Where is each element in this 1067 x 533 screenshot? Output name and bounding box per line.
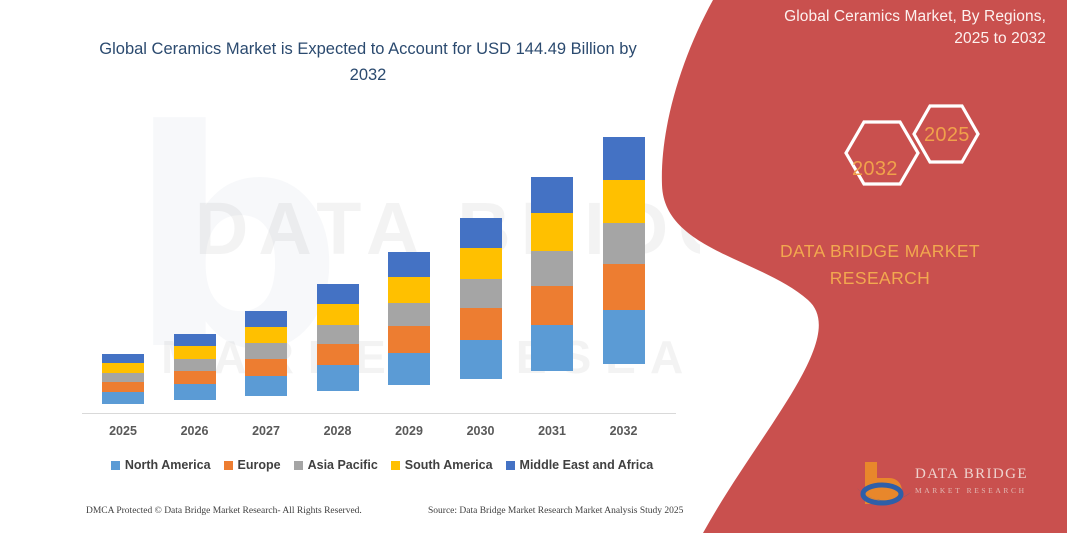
- legend-label: Europe: [238, 458, 281, 472]
- bar-segment-europe: [603, 264, 645, 310]
- hexagon-outlines: [820, 98, 1000, 210]
- legend-item-middle-east-and-africa[interactable]: Middle East and Africa: [506, 458, 654, 472]
- legend-swatch-icon: [224, 461, 233, 470]
- bar-segment-europe: [531, 286, 573, 325]
- infographic-root: b DATA BRIDGE MARKET RESEARCH Global Cer…: [0, 0, 1067, 533]
- legend-swatch-icon: [391, 461, 400, 470]
- logo-title: DATA BRIDGE: [915, 466, 1028, 483]
- bar-segment-europe: [388, 326, 430, 353]
- bar-segment-asia-pacific: [388, 303, 430, 327]
- bar-segment-north-america: [603, 310, 645, 364]
- legend-item-europe[interactable]: Europe: [224, 458, 281, 472]
- legend-swatch-icon: [506, 461, 515, 470]
- x-label-2026: 2026: [165, 424, 225, 438]
- bar-2032: [603, 137, 645, 415]
- bar-segment-north-america: [388, 353, 430, 385]
- bar-segment-middle-east-and-africa: [245, 311, 287, 327]
- bar-segment-middle-east-and-africa: [317, 284, 359, 304]
- bar-segment-europe: [245, 359, 287, 376]
- legend-swatch-icon: [111, 461, 120, 470]
- chart-legend: North AmericaEuropeAsia PacificSouth Ame…: [82, 455, 682, 475]
- bar-segment-north-america: [460, 340, 502, 378]
- x-label-2028: 2028: [308, 424, 368, 438]
- bar-segment-south-america: [388, 277, 430, 303]
- x-label-2029: 2029: [379, 424, 439, 438]
- hexagon-2025-label: 2025: [924, 124, 970, 147]
- chart-title: Global Ceramics Market is Expected to Ac…: [92, 36, 644, 88]
- bar-segment-europe: [174, 371, 216, 384]
- bar-2026: [174, 334, 216, 415]
- bar-2025: [102, 354, 144, 415]
- bar-segment-south-america: [245, 327, 287, 343]
- legend-swatch-icon: [294, 461, 303, 470]
- x-axis-labels: 20252026202720282029203020312032: [82, 424, 682, 446]
- legend-item-south-america[interactable]: South America: [391, 458, 493, 472]
- bar-segment-europe: [102, 382, 144, 392]
- bar-segment-middle-east-and-africa: [102, 354, 144, 363]
- panel-title: Global Ceramics Market, By Regions, 2025…: [746, 6, 1046, 50]
- legend-label: South America: [405, 458, 493, 472]
- bar-segment-middle-east-and-africa: [603, 137, 645, 180]
- bar-segment-north-america: [531, 325, 573, 371]
- footer-copyright: DMCA Protected © Data Bridge Market Rese…: [86, 506, 362, 516]
- footer: DMCA Protected © Data Bridge Market Rese…: [0, 506, 700, 526]
- legend-label: Asia Pacific: [308, 458, 378, 472]
- legend-label: North America: [125, 458, 211, 472]
- bar-segment-north-america: [245, 376, 287, 396]
- bar-2028: [317, 284, 359, 415]
- bar-segment-north-america: [317, 365, 359, 390]
- bar-segment-south-america: [102, 363, 144, 373]
- bar-segment-middle-east-and-africa: [460, 218, 502, 248]
- bar-segment-asia-pacific: [603, 223, 645, 264]
- legend-label: Middle East and Africa: [520, 458, 654, 472]
- bar-segment-middle-east-and-africa: [388, 252, 430, 277]
- bar-2029: [388, 252, 430, 415]
- bar-segment-asia-pacific: [460, 279, 502, 308]
- bar-segment-asia-pacific: [174, 359, 216, 371]
- x-label-2031: 2031: [522, 424, 582, 438]
- legend-item-asia-pacific[interactable]: Asia Pacific: [294, 458, 378, 472]
- hexagon-2032-label: 2032: [852, 158, 898, 181]
- bar-segment-asia-pacific: [102, 373, 144, 382]
- bar-segment-south-america: [603, 180, 645, 224]
- logo-subtitle: MARKET RESEARCH: [915, 486, 1027, 495]
- hexagon-badges: 2025 2032: [820, 98, 1000, 210]
- bar-segment-middle-east-and-africa: [531, 177, 573, 213]
- logo-mark-icon: [855, 458, 913, 508]
- legend-item-north-america[interactable]: North America: [111, 458, 211, 472]
- bar-2027: [245, 311, 287, 415]
- bar-chart-plot: [82, 110, 682, 415]
- bar-2031: [531, 177, 573, 415]
- bar-segment-north-america: [174, 384, 216, 400]
- bar-segment-south-america: [317, 304, 359, 325]
- bar-segment-asia-pacific: [245, 343, 287, 358]
- right-panel-content: Global Ceramics Market, By Regions, 2025…: [700, 0, 1067, 533]
- bar-segment-asia-pacific: [531, 251, 573, 286]
- bar-segment-south-america: [531, 213, 573, 251]
- bar-segment-south-america: [460, 248, 502, 279]
- bar-segment-middle-east-and-africa: [174, 334, 216, 346]
- x-label-2027: 2027: [236, 424, 296, 438]
- company-logo: DATA BRIDGE MARKET RESEARCH: [855, 458, 1055, 516]
- bar-segment-europe: [317, 344, 359, 365]
- bar-segment-south-america: [174, 346, 216, 359]
- bar-segment-europe: [460, 308, 502, 340]
- bar-segment-asia-pacific: [317, 325, 359, 344]
- x-label-2025: 2025: [93, 424, 153, 438]
- brand-name: DATA BRIDGE MARKET RESEARCH: [730, 238, 1030, 292]
- bar-segment-north-america: [102, 392, 144, 404]
- bar-2030: [460, 218, 502, 415]
- x-label-2030: 2030: [451, 424, 511, 438]
